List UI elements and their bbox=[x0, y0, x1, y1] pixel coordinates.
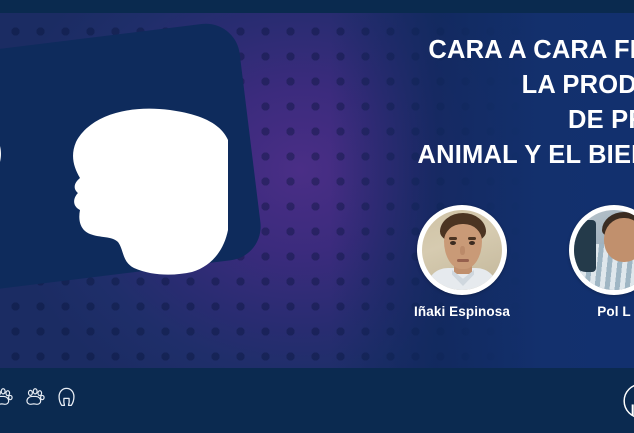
brand-logo: E I bbox=[622, 382, 634, 425]
avatar bbox=[417, 205, 507, 295]
speaker-name: Pol L bbox=[554, 304, 634, 319]
hero-graphic bbox=[0, 20, 280, 350]
speaker-name: Iñaki Espinosa bbox=[402, 304, 522, 319]
title-line-2: LA PRODUCCI bbox=[300, 68, 634, 103]
title-line-1: CARA A CARA FRENT bbox=[300, 33, 634, 68]
title-line-3: DE PROTE bbox=[300, 103, 634, 138]
bottom-bar: E I bbox=[0, 368, 634, 433]
columns-emblem-icon bbox=[622, 382, 634, 425]
speaker-photo bbox=[574, 210, 634, 290]
bottom-icon-group bbox=[0, 386, 77, 413]
title-line-4: ANIMAL Y EL BIENEST bbox=[300, 138, 634, 173]
paw-print-icon bbox=[24, 386, 46, 413]
paw-print-icon bbox=[0, 386, 14, 413]
speaker-card: Pol L bbox=[554, 205, 634, 319]
webinar-banner: CARA A CARA FRENT LA PRODUCCI DE PROTE A… bbox=[0, 0, 634, 433]
avatar bbox=[569, 205, 634, 295]
page-title: CARA A CARA FRENT LA PRODUCCI DE PROTE A… bbox=[300, 33, 634, 173]
speaker-card: Iñaki Espinosa bbox=[402, 205, 522, 319]
speakers-list: Iñaki Espinosa Pol L bbox=[402, 205, 634, 345]
top-accent-band bbox=[0, 0, 634, 13]
speech-bubble-shape bbox=[0, 20, 280, 350]
speaker-photo bbox=[422, 210, 502, 290]
hoof-icon bbox=[56, 386, 77, 413]
